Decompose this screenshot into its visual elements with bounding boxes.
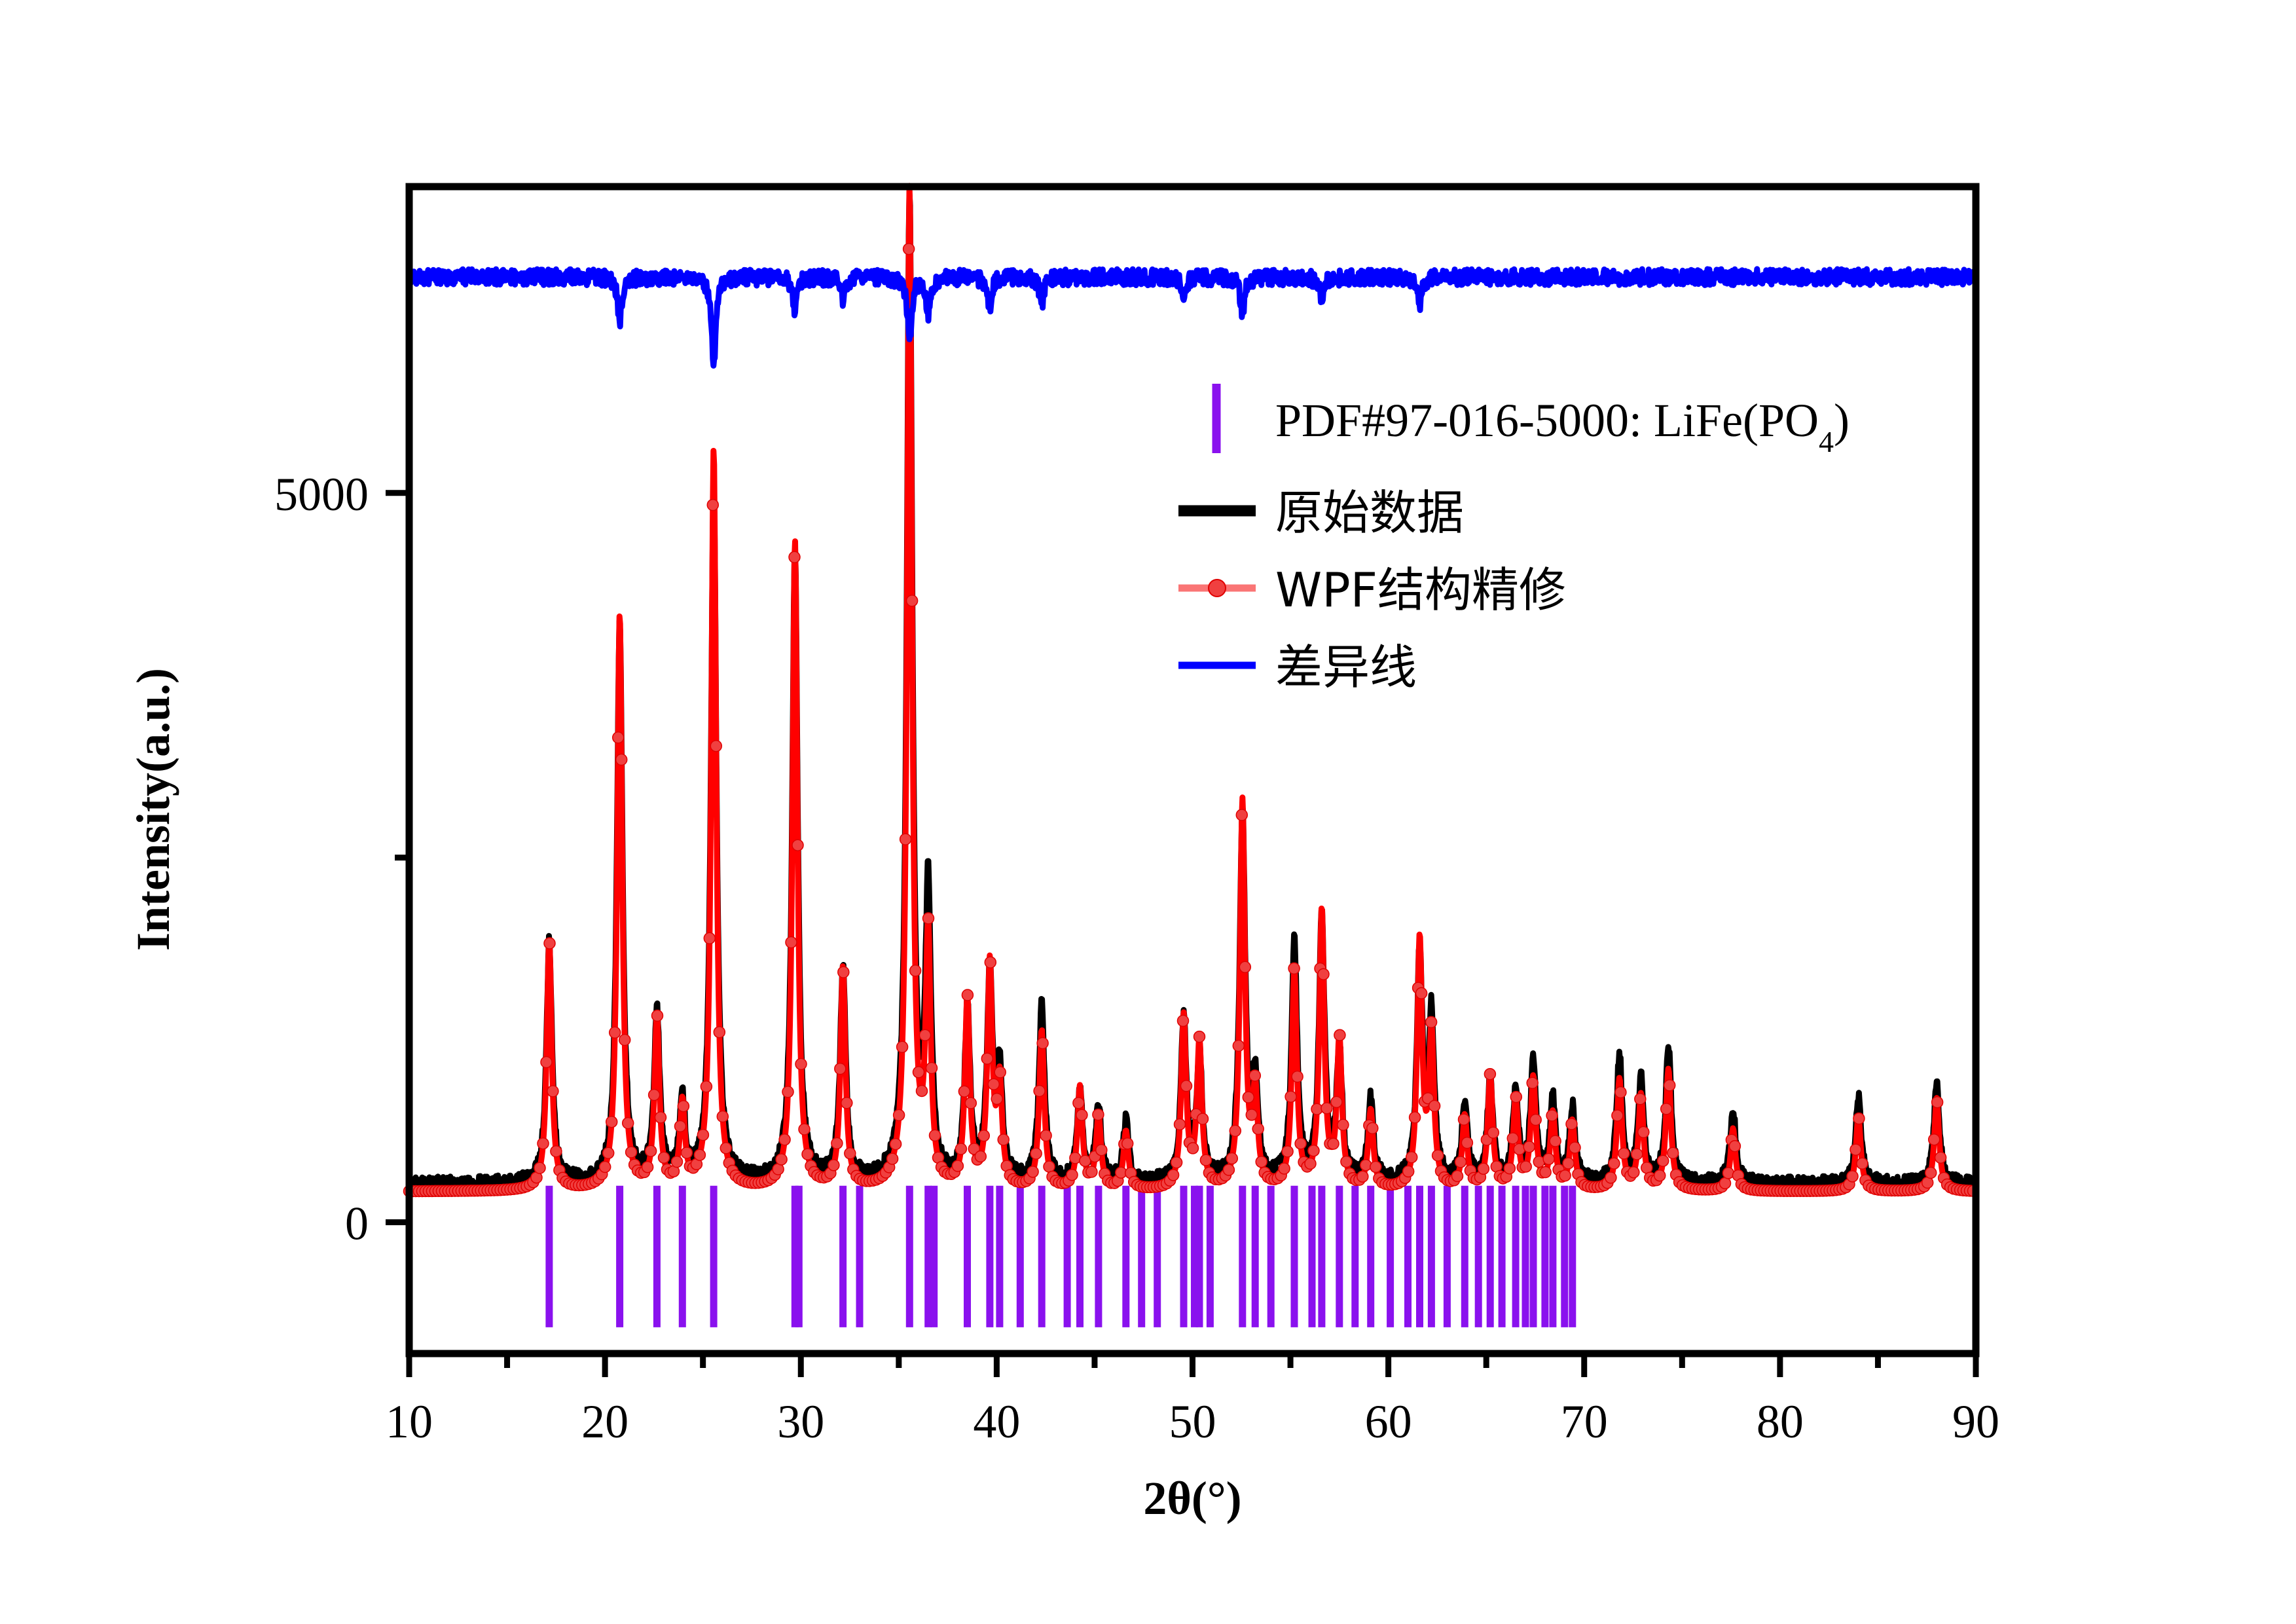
- x-tick-label: 80: [1757, 1395, 1804, 1448]
- calculated-marker: [1459, 1114, 1470, 1125]
- calculated-marker: [610, 1027, 621, 1038]
- calculated-marker: [907, 595, 918, 606]
- calculated-marker: [1935, 1152, 1946, 1163]
- y-axis-title: Intensity(a.u.): [127, 668, 179, 951]
- calculated-marker: [1527, 1077, 1538, 1088]
- calculated-marker: [1279, 1163, 1290, 1174]
- calculated-marker: [655, 1112, 666, 1123]
- calculated-marker: [1514, 1143, 1525, 1154]
- calculated-marker: [600, 1162, 611, 1173]
- calculated-marker: [1249, 1070, 1260, 1081]
- calculated-marker: [952, 1160, 963, 1172]
- calculated-marker: [1030, 1148, 1042, 1159]
- legend-label-obs: 原始数据: [1275, 485, 1464, 540]
- calculated-marker: [613, 732, 624, 743]
- calculated-marker: [1559, 1170, 1571, 1181]
- calculated-marker: [544, 938, 555, 949]
- calculated-marker: [710, 741, 721, 752]
- calculated-marker: [1292, 1071, 1303, 1082]
- calculated-marker: [1308, 1145, 1319, 1156]
- calculated-marker: [1370, 1161, 1381, 1172]
- calculated-marker: [720, 1143, 731, 1154]
- calculated-marker: [1341, 1156, 1352, 1168]
- calculated-marker: [646, 1145, 657, 1156]
- calculated-marker: [1093, 1109, 1104, 1120]
- calculated-marker: [1628, 1167, 1639, 1178]
- x-tick-label: 40: [973, 1395, 1020, 1448]
- calculated-marker: [1641, 1162, 1652, 1173]
- calculated-marker: [1618, 1148, 1630, 1159]
- x-tick-label: 70: [1561, 1395, 1608, 1448]
- calculated-marker: [1523, 1141, 1535, 1153]
- calculated-marker: [1452, 1171, 1463, 1182]
- calculated-marker: [786, 937, 797, 948]
- calculated-marker: [887, 1153, 898, 1164]
- calculated-marker: [1321, 1103, 1332, 1114]
- calculated-marker: [619, 1035, 630, 1046]
- x-tick-label: 10: [386, 1395, 433, 1448]
- calculated-marker: [910, 965, 921, 976]
- x-tick-label: 50: [1169, 1395, 1216, 1448]
- calculated-marker: [1282, 1146, 1293, 1157]
- calculated-marker: [704, 932, 715, 944]
- y-tick-label: 0: [345, 1198, 369, 1250]
- calculated-marker: [1066, 1170, 1078, 1181]
- calculated-marker: [1406, 1152, 1417, 1163]
- calculated-marker: [965, 1098, 976, 1109]
- calculated-marker: [1223, 1164, 1234, 1175]
- calculated-marker: [603, 1147, 614, 1158]
- calculated-marker: [958, 1086, 970, 1097]
- calculated-marker: [1615, 1087, 1626, 1098]
- calculated-marker: [675, 1120, 686, 1132]
- calculated-marker: [1667, 1147, 1679, 1158]
- calculated-marker: [1853, 1113, 1865, 1124]
- calculated-marker: [1200, 1154, 1211, 1166]
- calculated-marker: [782, 1086, 793, 1098]
- calculated-marker: [1546, 1110, 1558, 1121]
- calculated-marker: [894, 1109, 905, 1120]
- calculated-marker: [551, 1146, 562, 1157]
- calculated-marker: [606, 1116, 617, 1128]
- calculated-marker: [1331, 1096, 1342, 1107]
- calculated-marker: [1925, 1168, 1937, 1179]
- calculated-marker: [1520, 1161, 1531, 1172]
- calculated-marker: [923, 913, 934, 924]
- calculated-marker: [541, 1057, 552, 1068]
- calculated-marker: [1181, 1080, 1192, 1092]
- calculated-marker: [1171, 1157, 1182, 1168]
- calculated-marker: [1360, 1160, 1372, 1171]
- calculated-marker: [1334, 1029, 1345, 1041]
- calculated-marker: [981, 1053, 993, 1064]
- calculated-marker: [1612, 1110, 1623, 1121]
- calculated-marker: [991, 1094, 1002, 1105]
- calculated-marker: [1563, 1158, 1574, 1169]
- calculated-marker: [1929, 1134, 1940, 1145]
- calculated-marker: [678, 1101, 689, 1112]
- calculated-marker: [1188, 1143, 1199, 1154]
- calculated-marker: [1122, 1138, 1133, 1149]
- calculated-marker: [672, 1156, 683, 1168]
- calculated-marker: [547, 1086, 558, 1097]
- calculated-marker: [626, 1147, 637, 1158]
- calculated-marker: [828, 1160, 839, 1171]
- calculated-marker: [1416, 987, 1427, 999]
- calculated-marker: [1540, 1167, 1551, 1178]
- calculated-marker: [1027, 1166, 1038, 1177]
- calculated-marker: [1044, 1161, 1055, 1172]
- calculated-marker: [789, 551, 800, 563]
- calculated-marker: [1487, 1127, 1499, 1138]
- calculated-marker: [1243, 1092, 1254, 1103]
- legend-label-calc: WPF结构精修: [1275, 563, 1566, 618]
- calculated-marker: [694, 1149, 705, 1160]
- calculated-marker: [779, 1134, 790, 1145]
- calculated-marker: [1410, 1112, 1421, 1123]
- calculated-marker: [714, 1027, 725, 1038]
- calculated-marker: [985, 957, 996, 968]
- calculated-marker: [1609, 1158, 1620, 1169]
- calculated-marker: [1429, 1100, 1440, 1111]
- calculated-marker: [1073, 1098, 1084, 1109]
- calculated-marker: [1194, 1031, 1205, 1043]
- calculated-marker: [802, 1149, 813, 1160]
- calculated-marker: [1367, 1122, 1378, 1134]
- calculated-marker: [1722, 1168, 1734, 1179]
- calculated-marker: [955, 1143, 966, 1154]
- calculated-marker: [1233, 1041, 1244, 1052]
- calculated-marker: [1226, 1153, 1237, 1164]
- x-tick-label: 90: [1952, 1395, 1999, 1448]
- calculated-marker: [681, 1147, 692, 1158]
- calculated-marker: [795, 1058, 807, 1069]
- calculated-marker: [1857, 1158, 1868, 1169]
- calculated-marker: [1510, 1092, 1522, 1103]
- calculated-marker: [930, 1130, 941, 1141]
- calculated-marker: [1197, 1113, 1209, 1124]
- legend-label-diff: 差异线: [1275, 640, 1417, 695]
- calculated-marker: [1631, 1149, 1643, 1160]
- calculated-marker: [1729, 1141, 1740, 1152]
- calculated-marker: [1461, 1137, 1472, 1149]
- calculated-marker: [1478, 1163, 1489, 1174]
- y-tick-label: 5000: [274, 468, 369, 521]
- x-tick-label: 20: [581, 1395, 629, 1448]
- calculated-marker: [831, 1137, 843, 1149]
- x-tick-label: 60: [1365, 1395, 1412, 1448]
- calculated-marker: [903, 244, 915, 255]
- legend-marker-point-calc: [1209, 580, 1226, 597]
- calculated-marker: [776, 1154, 787, 1165]
- calculated-marker: [1484, 1069, 1495, 1080]
- calculated-marker: [1086, 1166, 1097, 1177]
- plot-background: [0, 0, 2296, 1624]
- x-tick-label: 30: [777, 1395, 824, 1448]
- calculated-marker: [1305, 1158, 1316, 1170]
- calculated-marker: [920, 1029, 931, 1041]
- calculated-marker: [1168, 1170, 1179, 1181]
- calculated-marker: [1664, 1080, 1675, 1091]
- calculated-marker: [792, 840, 803, 851]
- xrd-plot: 10203040506070809005000 2θ(°) Intensity(…: [0, 0, 2296, 1624]
- calculated-marker: [998, 1134, 1009, 1145]
- calculated-marker: [659, 1152, 670, 1163]
- calculated-marker: [1252, 1123, 1264, 1134]
- calculated-marker: [1850, 1144, 1861, 1155]
- calculated-marker: [1426, 1016, 1437, 1027]
- calculated-marker: [913, 1067, 924, 1078]
- calculated-marker: [890, 1139, 902, 1150]
- calculated-marker: [1932, 1097, 1943, 1108]
- calculated-marker: [962, 989, 973, 1001]
- calculated-marker: [1285, 1091, 1296, 1102]
- calculated-marker: [1295, 1138, 1306, 1149]
- calculated-marker: [900, 834, 911, 845]
- calculated-marker: [616, 754, 627, 766]
- calculated-marker: [1847, 1171, 1858, 1182]
- calculated-marker: [1096, 1145, 1107, 1156]
- calculated-marker: [534, 1162, 545, 1173]
- figure-canvas: 10203040506070809005000 2θ(°) Intensity(…: [0, 0, 2296, 1624]
- calculated-marker: [1635, 1094, 1646, 1105]
- calculated-marker: [701, 1081, 712, 1092]
- calculated-marker: [1661, 1103, 1672, 1115]
- calculated-marker: [799, 1124, 810, 1135]
- calculated-marker: [1037, 1038, 1048, 1049]
- calculated-marker: [1076, 1109, 1087, 1120]
- calculated-marker: [838, 967, 849, 978]
- x-axis-title: 2θ(°): [1143, 1472, 1241, 1524]
- calculated-marker: [1288, 963, 1300, 974]
- calculated-marker: [1658, 1155, 1669, 1166]
- calculated-marker: [1403, 1166, 1414, 1177]
- calculated-marker: [1504, 1163, 1515, 1174]
- calculated-marker: [1638, 1126, 1649, 1137]
- calculated-marker: [1654, 1170, 1666, 1181]
- calculated-marker: [707, 500, 718, 511]
- calculated-marker: [1432, 1150, 1444, 1161]
- calculated-marker: [1455, 1156, 1467, 1168]
- calculated-marker: [1543, 1153, 1554, 1164]
- calculated-marker: [1256, 1156, 1267, 1168]
- calculated-marker: [1175, 1119, 1186, 1130]
- calculated-marker: [642, 1162, 653, 1173]
- calculated-marker: [1605, 1172, 1616, 1183]
- calculated-marker: [841, 1098, 852, 1109]
- calculated-marker: [988, 1079, 999, 1090]
- calculated-marker: [1328, 1138, 1339, 1149]
- calculated-marker: [897, 1041, 908, 1052]
- calculated-marker: [1720, 1177, 1731, 1189]
- calculated-marker: [623, 1118, 634, 1129]
- calculated-marker: [1550, 1135, 1561, 1147]
- calculated-marker: [1246, 1109, 1257, 1120]
- calculated-marker: [1338, 1119, 1349, 1130]
- calculated-marker: [994, 1067, 1006, 1078]
- calculated-marker: [917, 1086, 928, 1097]
- calculated-marker: [652, 1010, 663, 1022]
- calculated-marker: [975, 1151, 986, 1162]
- calculated-marker: [717, 1111, 728, 1122]
- calculated-marker: [649, 1090, 660, 1101]
- calculated-marker: [1569, 1142, 1580, 1153]
- calculated-marker: [697, 1130, 708, 1141]
- calculated-marker: [926, 1063, 938, 1074]
- calculated-marker: [1239, 961, 1250, 972]
- calculated-marker: [1566, 1118, 1577, 1130]
- calculated-marker: [1318, 969, 1329, 980]
- calculated-marker: [1357, 1171, 1368, 1182]
- calculated-marker: [538, 1138, 549, 1149]
- calculated-marker: [835, 1063, 846, 1075]
- calculated-marker: [1178, 1015, 1189, 1026]
- calculated-marker: [1530, 1115, 1541, 1126]
- calculated-marker: [1230, 1125, 1241, 1136]
- calculated-marker: [1236, 809, 1247, 821]
- calculated-marker: [845, 1148, 856, 1159]
- calculated-marker: [1040, 1130, 1051, 1141]
- calculated-marker: [1034, 1086, 1045, 1097]
- calculated-marker: [1507, 1133, 1518, 1144]
- calculated-marker: [978, 1130, 989, 1141]
